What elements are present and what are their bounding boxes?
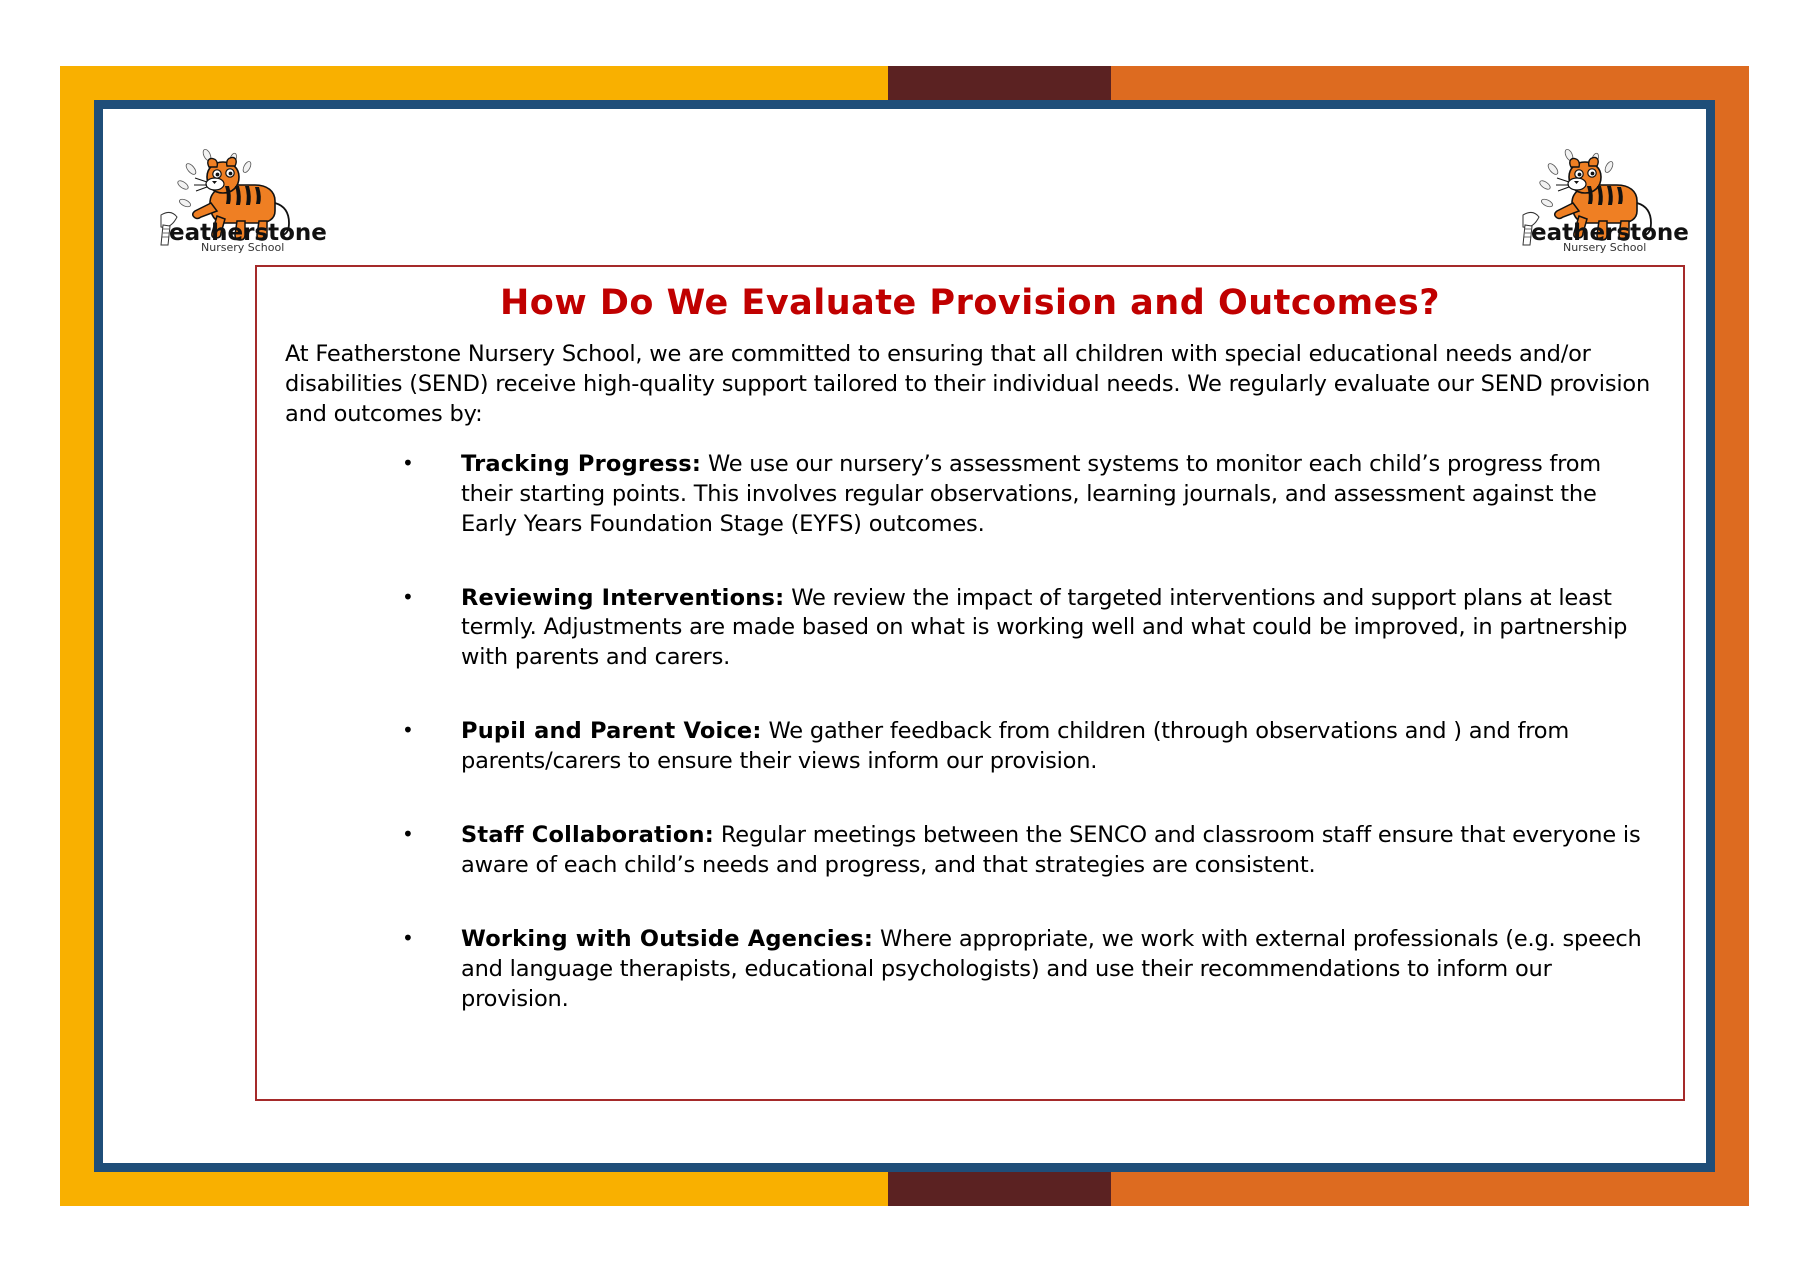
content-panel: How Do We Evaluate Provision and Outcome…	[255, 265, 1685, 1101]
list-item-lead: Pupil and Parent Voice:	[461, 718, 762, 744]
list-item: Reviewing Interventions: We review the i…	[257, 584, 1655, 674]
list-item: Tracking Progress: We use our nursery’s …	[257, 450, 1655, 540]
list-item: Working with Outside Agencies: Where app…	[257, 925, 1655, 1015]
decorative-frame: eatherstone Nursery School	[60, 66, 1749, 1206]
logo-subtitle: Nursery School	[201, 241, 284, 253]
list-item-lead: Reviewing Interventions:	[461, 585, 784, 611]
list-item-lead: Staff Collaboration:	[461, 822, 714, 848]
list-item-lead: Tracking Progress:	[461, 451, 701, 477]
logo-subtitle: Nursery School	[1563, 241, 1646, 253]
school-logo-left: eatherstone Nursery School	[155, 141, 330, 253]
page-canvas: eatherstone Nursery School	[94, 100, 1715, 1172]
list-item: Pupil and Parent Voice: We gather feedba…	[257, 717, 1655, 777]
document-page: eatherstone Nursery School	[0, 0, 1811, 1280]
list-item-lead: Working with Outside Agencies:	[461, 926, 873, 952]
school-logo-right: eatherstone Nursery School	[1517, 141, 1692, 253]
intro-paragraph: At Featherstone Nursery School, we are c…	[271, 340, 1655, 430]
page-title: How Do We Evaluate Provision and Outcome…	[257, 283, 1683, 323]
evaluation-methods-list: Tracking Progress: We use our nursery’s …	[257, 450, 1683, 1015]
list-item: Staff Collaboration: Regular meetings be…	[257, 821, 1655, 881]
